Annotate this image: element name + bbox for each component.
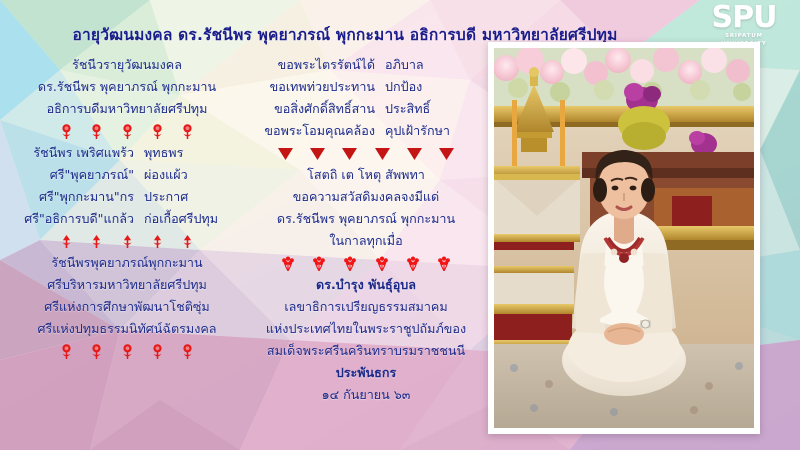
left-stanza-2: รัชนีพร เพริศแพร้ว พุทธพร ศรี"พุคยาภรณ์"… [2, 142, 252, 230]
poem-line-b: ประกาศ [144, 186, 248, 208]
triangle-down-icon [342, 147, 357, 160]
bouquet-icon [312, 256, 326, 271]
rose-icon [181, 344, 194, 359]
poem-line: ดร.รัชนีพร พุคยาภรณ์ พุกกะมาน [2, 76, 252, 98]
rose-icon [60, 234, 73, 249]
poem-line: รัชนีพรพุคยาภรณ์พุกกะมาน [2, 252, 252, 274]
rose-icon [60, 344, 73, 359]
signature-line: แห่งประเทศไทยในพระราชูปถัมภ์ของ [252, 318, 480, 340]
left-stanza-1: รัชนีวรายุวัฒนมงคล ดร.รัชนีพร พุคยาภรณ์ … [2, 54, 252, 120]
poem-line: ศรีแห่งการศึกษาพัฒนาโชติซุ่ม [2, 296, 252, 318]
middle-poem-column: ขอพระไตรรัตน์ได้ อภิบาล ขอเทพท่วยประทาน … [252, 54, 480, 408]
poem-line-a: ขอพระไตรรัตน์ได้ [259, 54, 375, 76]
poem-line-b: ผ่องแผ้ว [144, 164, 248, 186]
poem-line-a: รัชนีพร เพริศแพร้ว [6, 142, 134, 164]
rose-icon [151, 234, 164, 249]
rose-icon [90, 234, 103, 249]
bouquet-icon [343, 256, 357, 271]
poem-couplet: ขอสิ่งศักดิ์สิทธิ์สาน ประสิทธิ์ [252, 98, 480, 120]
left-poem-column: รัชนีวรายุวัฒนมงคล ดร.รัชนีพร พุคยาภรณ์ … [2, 54, 252, 362]
poem-couplet: ศรี"อธิการบดี"แกล้ว ก่อเกื้อศรีปทุม [2, 208, 252, 230]
poem-line-a: ศรี"พุคยาภรณ์" [6, 164, 134, 186]
poem-line: ศรีบริหารมหาวิทยาลัยศรีปทุม [2, 274, 252, 296]
poem-line: อธิการบดีมหาวิทยาลัยศรีปทุม [2, 98, 252, 120]
rose-ornament-row [2, 122, 252, 140]
rose-icon [181, 124, 194, 139]
poem-couplet: ขอพระโอมคุณคล้อง คุปเฝ้ารักษา [252, 120, 480, 142]
poem-couplet: ขอเทพท่วยประทาน ปกป้อง [252, 76, 480, 98]
poem-couplet: ศรี"พุกกะมาน"กร ประกาศ [2, 186, 252, 208]
rose-icon [121, 234, 134, 249]
poem-line: ในกาลทุกเมื่อ [252, 230, 480, 252]
poem-line-a: ขอพระโอมคุณคล้อง [259, 120, 375, 142]
poster-canvas: อายุวัฒนมงคล ดร.รัชนีพร พุคยาภรณ์ พุกกะม… [0, 0, 800, 450]
logo-subtitle-line1: SRIPATUM [696, 33, 792, 40]
rose-icon [60, 124, 73, 139]
poem-line: ศรีแห่งปทุมธรรมนิทัศน์ฉัตรมงคล [2, 318, 252, 340]
left-stanza-3: รัชนีพรพุคยาภรณ์พุกกะมาน ศรีบริหารมหาวิท… [2, 252, 252, 340]
bouquet-icon [406, 256, 420, 271]
portrait-photo [494, 48, 754, 428]
poem-line-b: ก่อเกื้อศรีปทุม [144, 208, 248, 230]
signature-name: ดร.บำรุง พันธุ์อุบล [252, 274, 480, 296]
bouquet-icon [437, 256, 451, 271]
poem-line-a: ศรี"อธิการบดี"แกล้ว [6, 208, 134, 230]
poem-line: ขอความสวัสดิมงคลจงมีแด่ [252, 186, 480, 208]
portrait-illustration [494, 48, 754, 428]
poem-line: รัชนีวรายุวัฒนมงคล [2, 54, 252, 76]
rose-icon [151, 124, 164, 139]
triangle-down-icon [439, 147, 454, 160]
poem-line-b: ประสิทธิ์ [385, 98, 473, 120]
portrait-photo-frame [488, 42, 760, 434]
poem-line-b: พุทธพร [144, 142, 248, 164]
bouquet-icon [375, 256, 389, 271]
poem-line-a: ขอสิ่งศักดิ์สิทธิ์สาน [259, 98, 375, 120]
poem-couplet: ศรี"พุคยาภรณ์" ผ่องแผ้ว [2, 164, 252, 186]
poem-couplet: รัชนีพร เพริศแพร้ว พุทธพร [2, 142, 252, 164]
triangle-down-icon [278, 147, 293, 160]
signature-date: ๑๔ กันยายน ๖๓ [252, 384, 480, 406]
signature-line: สมเด็จพระศรีนครินทราบรมราชชนนี [252, 340, 480, 362]
rose-icon [121, 124, 134, 139]
middle-stanza-1: ขอพระไตรรัตน์ได้ อภิบาล ขอเทพท่วยประทาน … [252, 54, 480, 142]
rose-icon [181, 234, 194, 249]
poem-line-a: ขอเทพท่วยประทาน [259, 76, 375, 98]
rose-ornament-row [2, 342, 252, 360]
signature-line: เลขาธิการเปรียญธรรมสมาคม [252, 296, 480, 318]
poem-line: โสตถิ เต โหตุ สัพพทา [252, 164, 480, 186]
poem-line-b: คุปเฝ้ารักษา [385, 120, 473, 142]
poem-line: ดร.รัชนีพร พุคยาภรณ์ พุกกะมาน [252, 208, 480, 230]
poem-line-b: ปกป้อง [385, 76, 473, 98]
rose-icon [90, 124, 103, 139]
bouquet-icon [281, 256, 295, 271]
logo-mark: SPU [696, 4, 792, 32]
middle-stanza-2: โสตถิ เต โหตุ สัพพทา ขอความสวัสดิมงคลจงม… [252, 164, 480, 252]
poem-line-a: ศรี"พุกกะมาน"กร [6, 186, 134, 208]
bouquet-ornament-row [252, 254, 480, 272]
poem-line-b: อภิบาล [385, 54, 473, 76]
signature-role: ประพันธกร [252, 362, 480, 384]
triangle-down-icon [407, 147, 422, 160]
rose-icon [151, 344, 164, 359]
rose-ornament-row [2, 232, 252, 250]
triangle-down-icon [310, 147, 325, 160]
rose-icon [90, 344, 103, 359]
rose-icon [121, 344, 134, 359]
poem-couplet: ขอพระไตรรัตน์ได้ อภิบาล [252, 54, 480, 76]
signature-block: ดร.บำรุง พันธุ์อุบล เลขาธิการเปรียญธรรมส… [252, 274, 480, 406]
triangle-ornament-row [252, 144, 480, 162]
triangle-down-icon [375, 147, 390, 160]
